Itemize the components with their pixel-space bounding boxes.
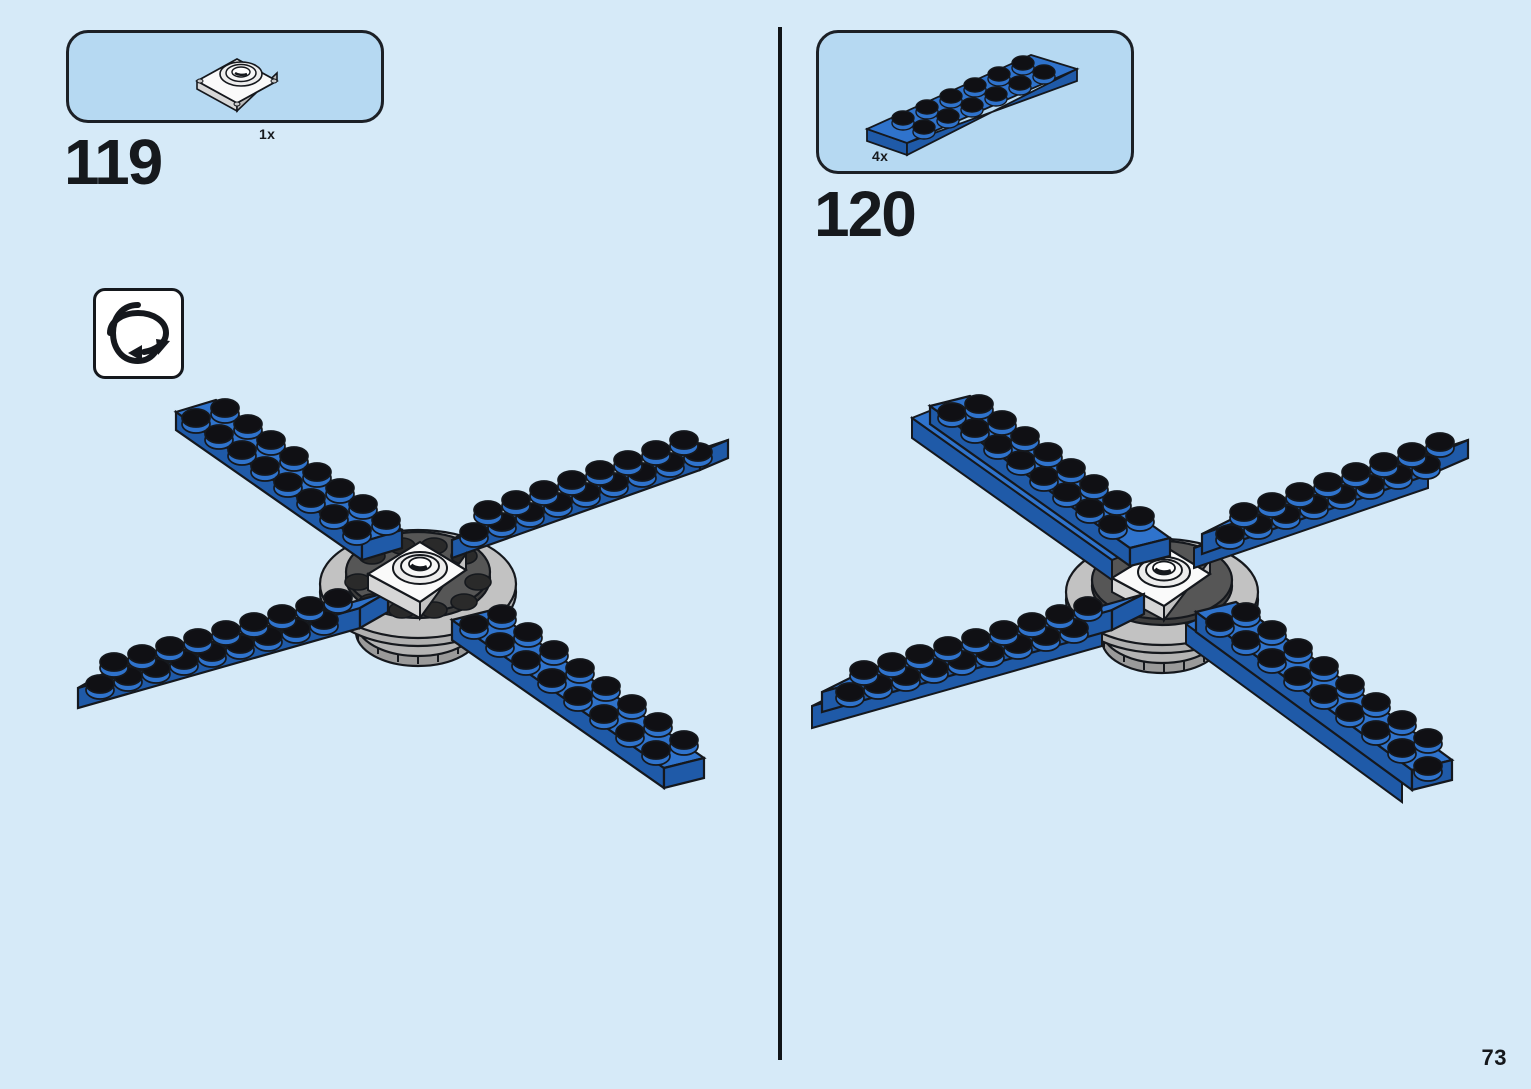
assembly-illustration-120 <box>782 0 1531 1089</box>
step-panel-120: 4x 120 <box>782 0 1531 1089</box>
page-number: 73 <box>1482 1045 1507 1071</box>
rotor-arm-lower-right <box>1186 602 1452 802</box>
rotor-arm-lower-left <box>812 594 1144 728</box>
rotor-arm-upper-left <box>176 399 402 560</box>
rotor-arm-upper-right <box>452 431 728 558</box>
rotor-arm-upper-right <box>1194 433 1468 568</box>
rotor-arm-upper-left <box>912 395 1170 580</box>
rotor-arm-lower-right <box>452 605 704 788</box>
step-panel-119: 1x 119 <box>0 0 778 1089</box>
assembly-illustration-119 <box>0 0 778 1089</box>
rotor-arm-lower-left <box>78 589 388 708</box>
instruction-page: 1x 119 <box>0 0 1531 1089</box>
